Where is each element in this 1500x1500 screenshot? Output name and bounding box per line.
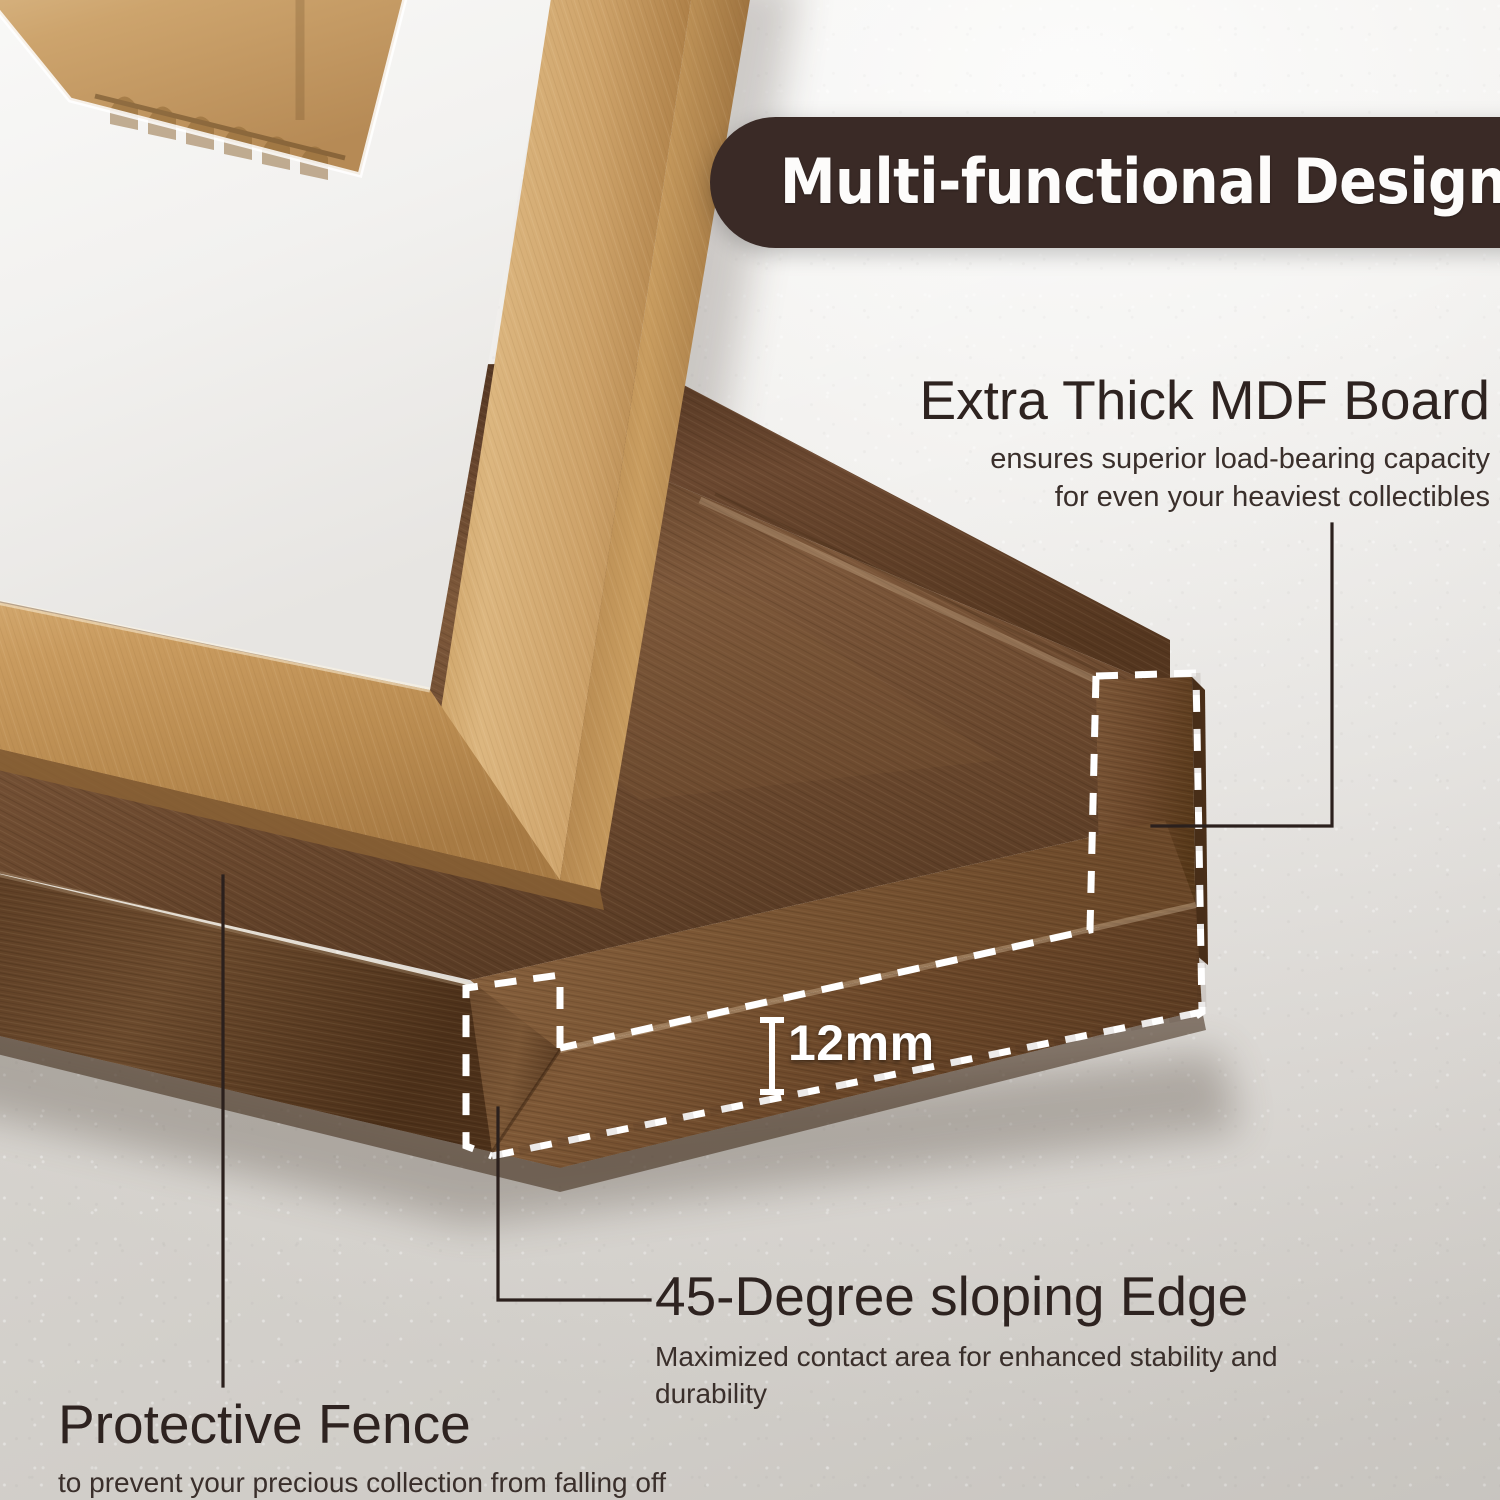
callout-fence-title: Protective Fence bbox=[58, 1396, 758, 1453]
callout-slope-title: 45-Degree sloping Edge bbox=[655, 1268, 1395, 1325]
callout-mdf-board: Extra Thick MDF Board ensures superior l… bbox=[760, 372, 1490, 517]
callout-mdf-subtitle: ensures superior load-bearing capacity f… bbox=[760, 441, 1490, 516]
infographic-canvas: Multi-functional Design Extra Thick MDF … bbox=[0, 0, 1500, 1500]
callout-fence-subtitle: to prevent your precious collection from… bbox=[58, 1465, 758, 1500]
dimension-label-12mm: 12mm bbox=[788, 1014, 935, 1072]
header-badge-label: Multi-functional Design bbox=[780, 145, 1500, 218]
callout-slope-subtitle: Maximized contact area for enhanced stab… bbox=[655, 1339, 1395, 1412]
callout-mdf-subtitle-line1: ensures superior load-bearing capacity bbox=[760, 441, 1490, 479]
header-badge: Multi-functional Design bbox=[710, 117, 1500, 248]
callout-mdf-title: Extra Thick MDF Board bbox=[760, 372, 1490, 429]
callout-sloping-edge: 45-Degree sloping Edge Maximized contact… bbox=[655, 1268, 1395, 1412]
callout-protective-fence: Protective Fence to prevent your preciou… bbox=[58, 1396, 758, 1500]
callout-mdf-subtitle-line2: for even your heaviest collectibles bbox=[760, 479, 1490, 517]
